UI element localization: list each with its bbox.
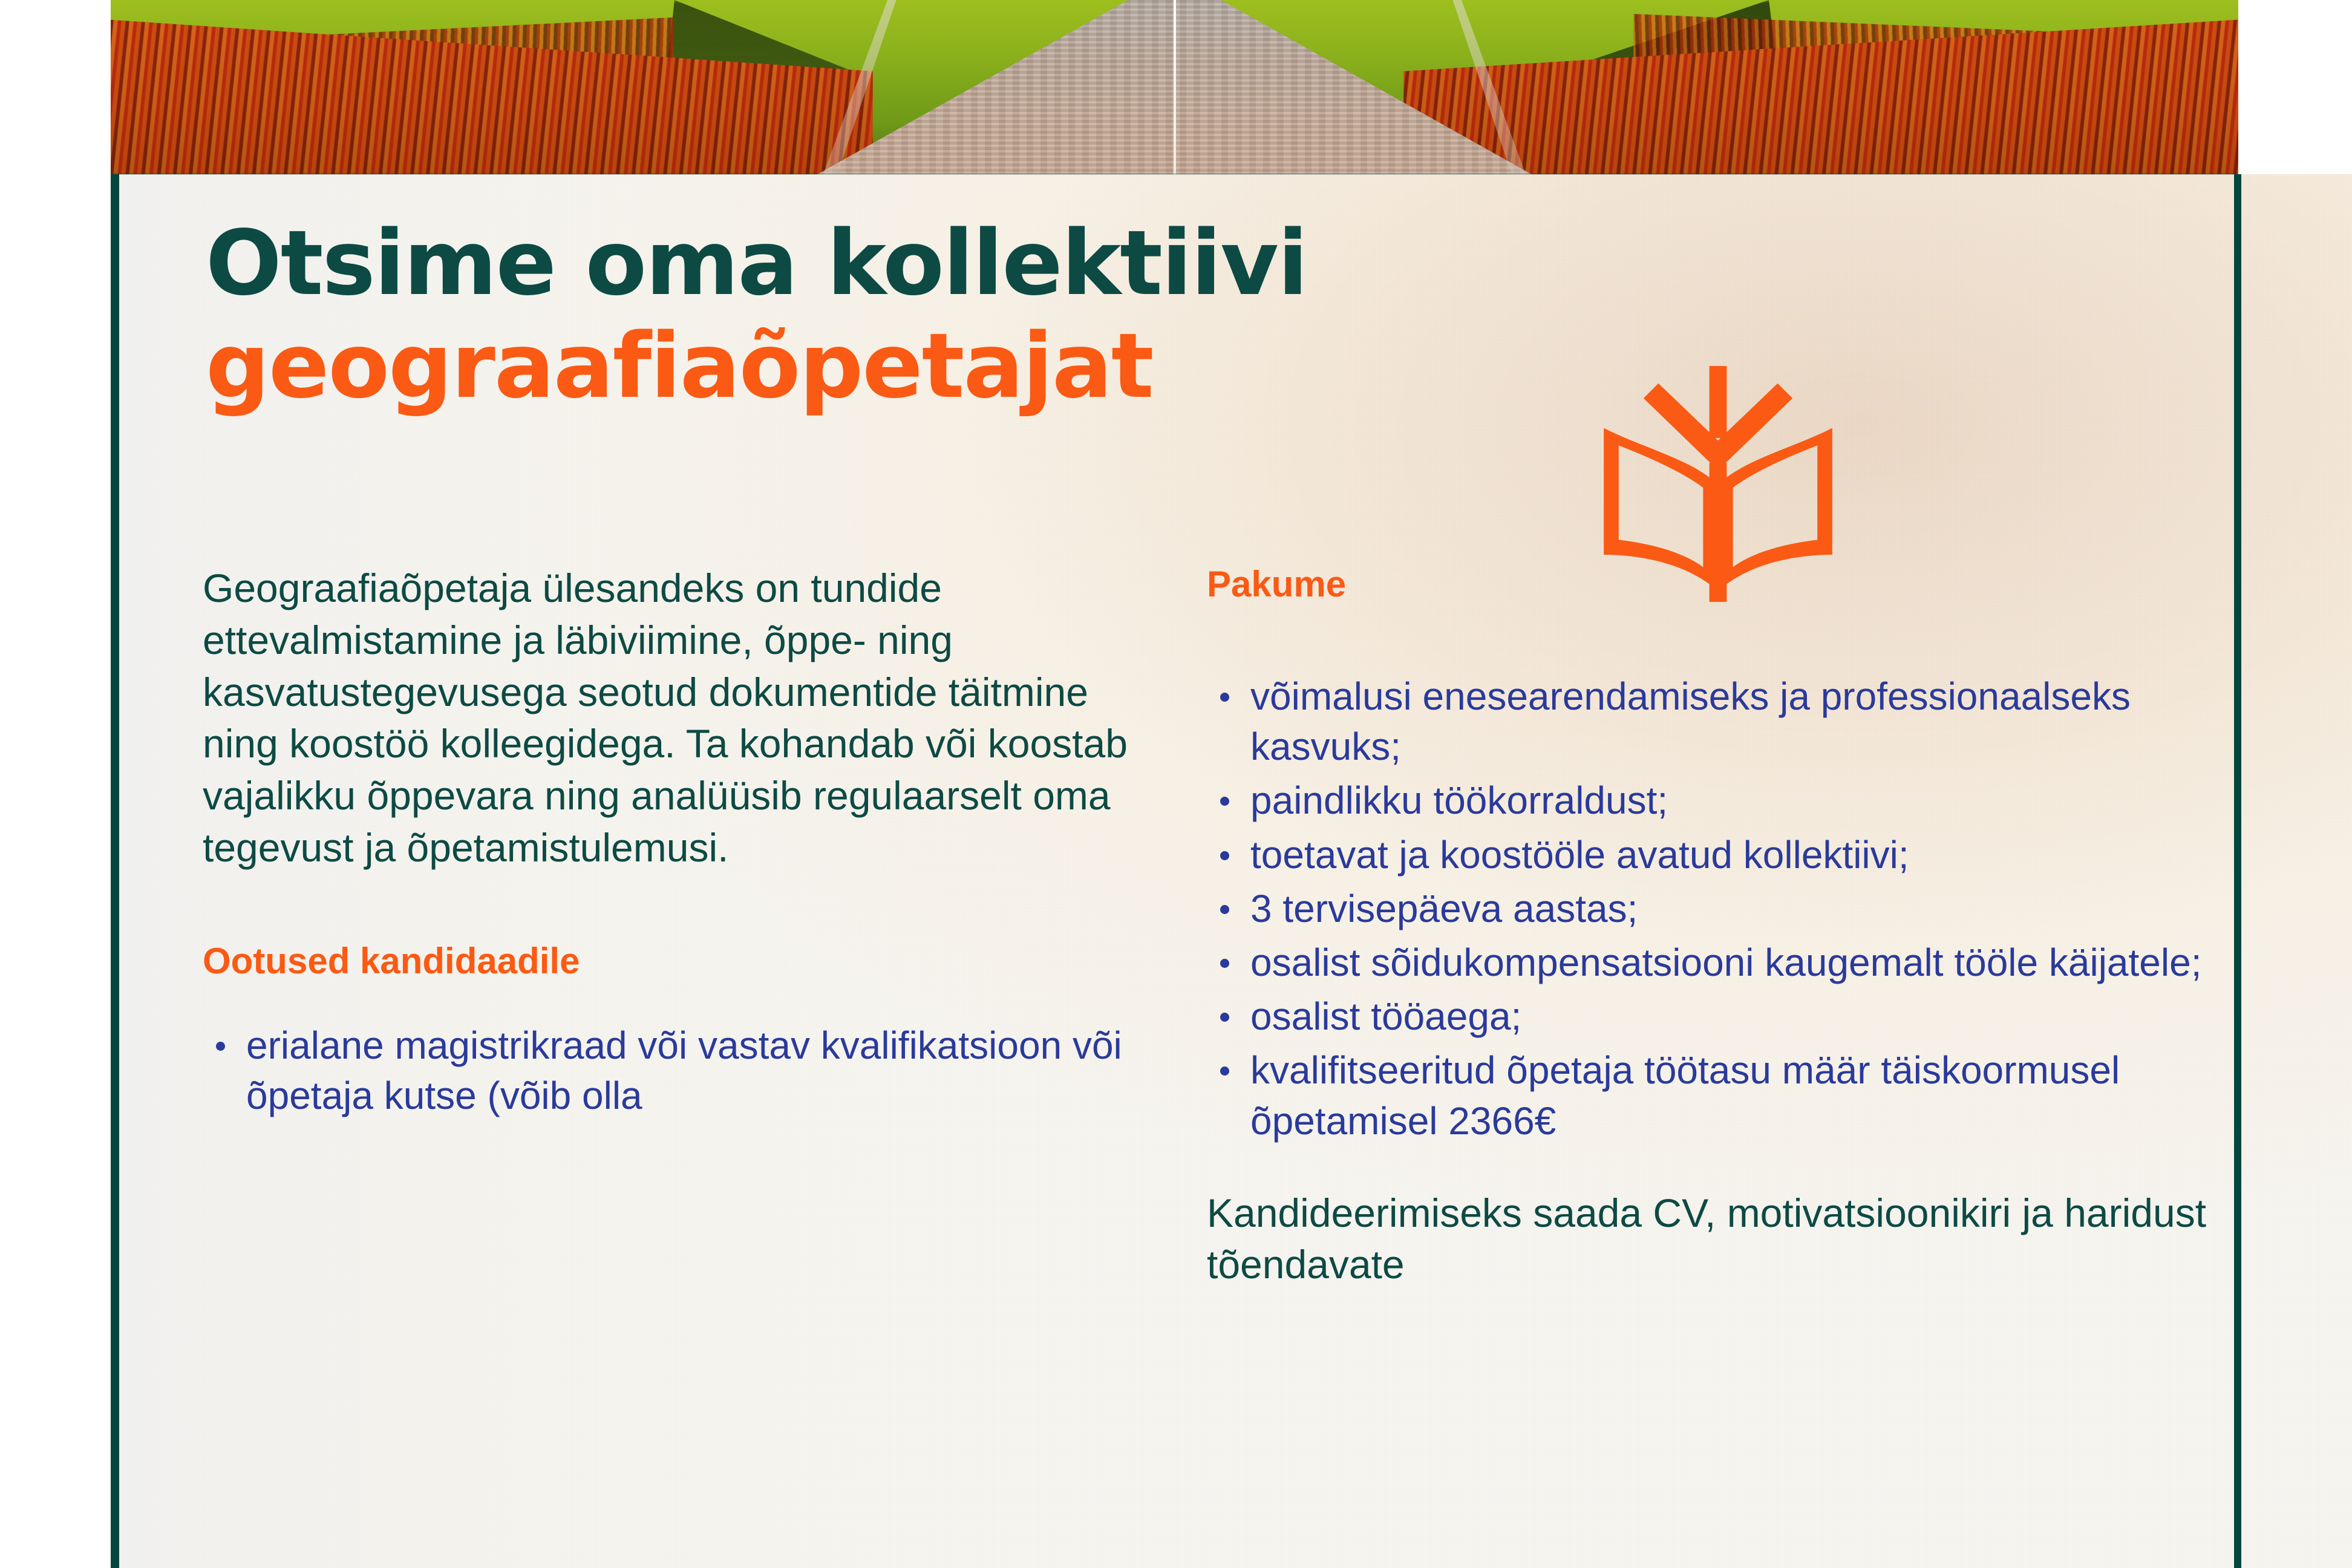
list-item: 3 tervisepäeva aastas; xyxy=(1207,884,2211,934)
list-item: paindlikku töökorraldust; xyxy=(1207,776,2211,826)
list-item: osalist sõidukompensatsiooni kaugemalt t… xyxy=(1207,938,2211,988)
right-content-column: Pakume võimalusi enesearendamiseks ja pr… xyxy=(1207,563,2211,1291)
job-advert-poster: Otsime oma kollektiivi geograafiaõpetaja… xyxy=(0,0,2352,1568)
list-item: võimalusi enesearendamiseks ja professio… xyxy=(1207,671,2211,772)
expectations-bullet-list: erialane magistrikraad või vastav kvalif… xyxy=(203,1021,1134,1121)
left-content-column: Geograafiaõpetaja ülesandeks on tundide … xyxy=(203,563,1134,1125)
title-line-primary: Otsime oma kollektiivi xyxy=(206,212,1718,315)
right-heading-spacer xyxy=(1207,606,2211,671)
section-heading-expectations: Ootused kandidaadile xyxy=(203,939,1134,983)
page-title: Otsime oma kollektiivi geograafiaõpetaja… xyxy=(206,212,1718,417)
list-item: osalist tööaega; xyxy=(1207,991,2211,1042)
left-heading-spacer xyxy=(203,983,1134,1021)
title-line-secondary: geograafiaõpetajat xyxy=(206,315,1718,417)
list-item: toetavat ja koostööle avatud kollektiivi… xyxy=(1207,830,2211,880)
job-description-paragraph: Geograafiaõpetaja ülesandeks on tundide … xyxy=(203,563,1134,874)
frame-border-left xyxy=(111,174,119,1568)
offer-bullet-list: võimalusi enesearendamiseks ja professio… xyxy=(1207,671,2211,1146)
header-photo-autumn-path xyxy=(111,0,2238,174)
application-instructions-paragraph: Kandideerimiseks saada CV, motivatsiooni… xyxy=(1207,1187,2211,1292)
photo-bottom-rule xyxy=(111,173,2238,175)
frame-border-right xyxy=(2234,174,2241,1568)
list-item: kvalifitseeritud õpetaja töötasu määr tä… xyxy=(1207,1045,2211,1146)
right-closing-spacer xyxy=(1207,1150,2211,1187)
photo-path-centre-line xyxy=(1174,0,1176,174)
left-column-spacer xyxy=(203,874,1134,939)
section-heading-offer: Pakume xyxy=(1207,563,2211,606)
list-item: erialane magistrikraad või vastav kvalif… xyxy=(203,1021,1134,1121)
